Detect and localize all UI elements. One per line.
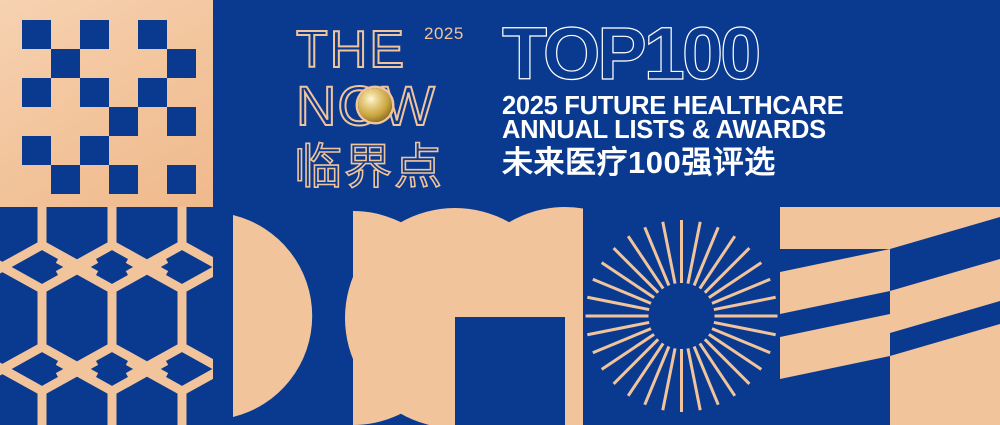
checker-cell-4-2 — [80, 136, 109, 165]
checker-cell-3-3 — [109, 107, 138, 136]
logo-the-row: THE 2025 — [296, 24, 486, 76]
checker-cell-2-1 — [51, 78, 80, 107]
checker-cell-0-3 — [109, 20, 138, 49]
checker-cell-1-0 — [22, 49, 51, 78]
logo-chinese: 临界点 — [294, 144, 444, 192]
checker-cell-1-2 — [80, 49, 109, 78]
sunburst-panel — [583, 207, 780, 425]
checker-cell-2-0 — [22, 78, 51, 107]
checker-cell-2-4 — [138, 78, 167, 107]
logo-lockup: THE 2025 NOW 临界点 — [296, 24, 486, 196]
checker-cell-4-4 — [138, 136, 167, 165]
checker-cell-0-1 — [51, 20, 80, 49]
checker-cell-1-1 — [51, 49, 80, 78]
sunburst-icon — [583, 207, 780, 425]
headline-block: TOP100 2025 FUTURE HEALTHCARE ANNUAL LIS… — [502, 22, 842, 181]
checker-cell-3-4 — [138, 107, 167, 136]
checker-cell-3-2 — [80, 107, 109, 136]
checker-cell-2-5 — [167, 78, 196, 107]
checker-block — [0, 0, 213, 207]
checker-cell-3-5 — [167, 107, 196, 136]
hexagon-lattice-panel — [0, 207, 225, 425]
checker-cell-5-2 — [80, 165, 109, 194]
subtitle-en-line1: 2025 FUTURE HEALTHCARE — [502, 94, 842, 118]
checker-cell-5-4 — [138, 165, 167, 194]
subtitle-cn: 未来医疗100强评选 — [502, 145, 842, 181]
top100-title: TOP100 — [502, 22, 842, 86]
checker-cell-0-5 — [167, 20, 196, 49]
subtitle-en-line2: ANNUAL LISTS & AWARDS — [502, 118, 842, 142]
checker-cell-3-1 — [51, 107, 80, 136]
checker-cell-0-0 — [22, 20, 51, 49]
checker-cell-5-5 — [167, 165, 196, 194]
checker-cell-2-2 — [80, 78, 109, 107]
checker-cell-4-0 — [22, 136, 51, 165]
checker-cell-4-5 — [167, 136, 196, 165]
checker-cell-0-4 — [138, 20, 167, 49]
checker-cell-2-3 — [109, 78, 138, 107]
checker-cell-3-0 — [22, 107, 51, 136]
checker-cell-1-5 — [167, 49, 196, 78]
hexagon-lattice-icon — [0, 207, 225, 425]
checker-cell-5-3 — [109, 165, 138, 194]
banner-root: THE 2025 NOW 临界点 TOP100 2025 FUTURE HEAL… — [0, 0, 1000, 425]
half-circles-icon — [213, 207, 583, 425]
logo-word-the: THE — [296, 24, 406, 76]
checker-cell-5-0 — [22, 165, 51, 194]
gold-orb-icon — [358, 88, 392, 122]
checker-cell-1-3 — [109, 49, 138, 78]
decor-band — [0, 207, 1000, 425]
logo-now-row: NOW — [296, 78, 486, 134]
checker-cell-4-3 — [109, 136, 138, 165]
chevron-stripes-icon — [780, 207, 1000, 425]
checker-cell-4-1 — [51, 136, 80, 165]
checker-cell-5-1 — [51, 165, 80, 194]
checker-cell-0-2 — [80, 20, 109, 49]
chevron-stripes-panel — [780, 207, 1000, 425]
checker-cell-1-4 — [138, 49, 167, 78]
checker-grid — [22, 20, 196, 194]
half-circles-panel — [213, 207, 583, 425]
logo-year: 2025 — [424, 25, 464, 42]
